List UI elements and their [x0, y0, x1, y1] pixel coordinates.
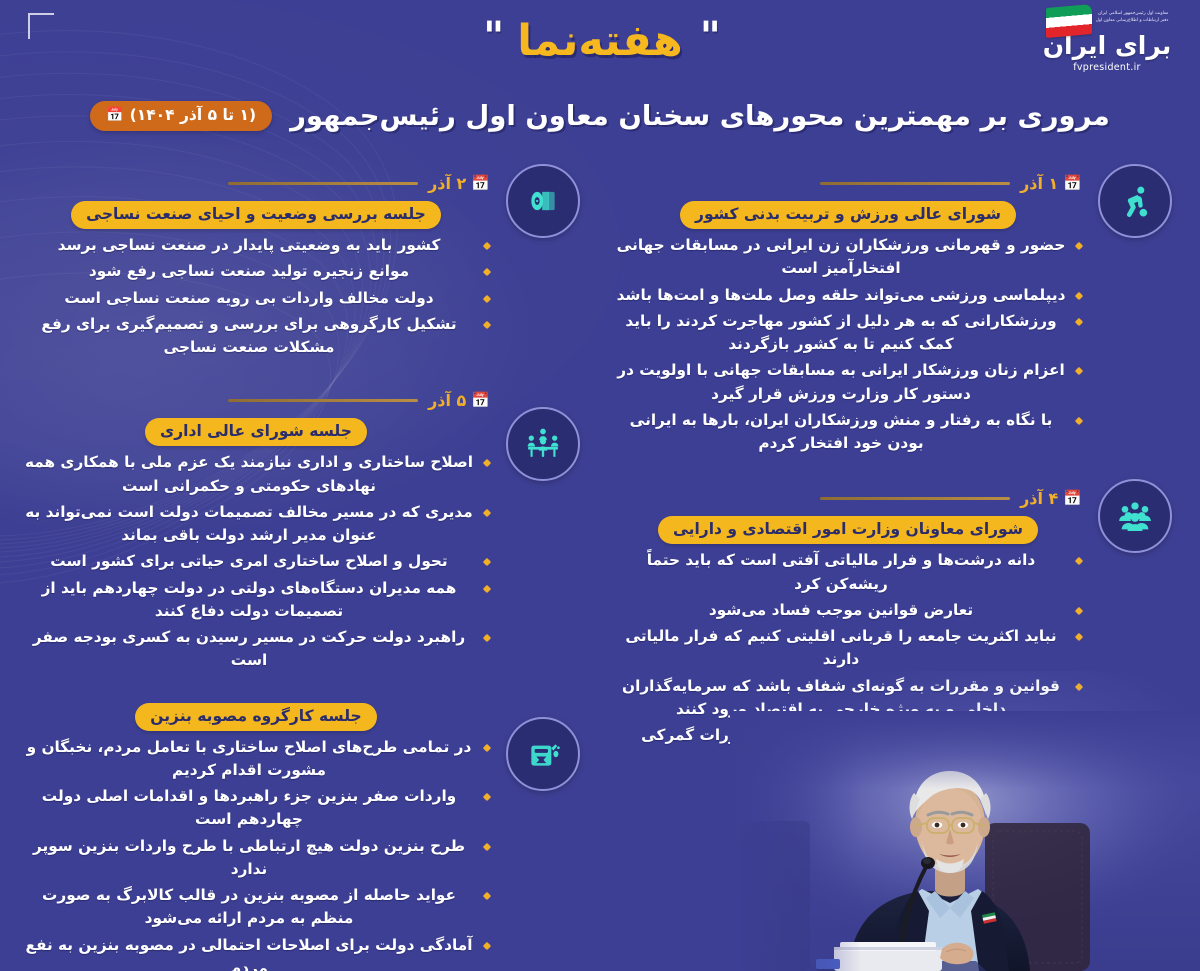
- list-item: راهبرد دولت حرکت در مسیر رسیدن به کسری ب…: [22, 626, 490, 673]
- header: معاونت اول رئیس‌جمهور اسلامی ایران دفتر …: [0, 0, 1200, 165]
- section-body: جلسه کارگروه مصوبه بنزین در تمامی طرح‌ها…: [22, 703, 586, 971]
- meeting-table-icon: [506, 407, 580, 481]
- date-range-badge: (۱ تا ۵ آذر ۱۴۰۴) 📅: [90, 101, 272, 131]
- calendar-icon: 📅: [106, 107, 123, 123]
- section-title-row: شورای عالی ورزش و تربیت بدنی کشور: [614, 201, 1082, 229]
- left-column: 📅 ۲ آذر جلسه بررسی وضعیت و احیای صنعت نس…: [0, 168, 600, 968]
- section-divider: [228, 182, 418, 185]
- list-item: قوانین و مقررات به گونه‌ای شفاف باشد که …: [614, 675, 1082, 722]
- title-area: " هفته‌نما ": [0, 16, 1200, 66]
- section-header: 📅 ۵ آذر: [22, 385, 586, 415]
- section-date-text: ۴ آذر: [1020, 489, 1058, 508]
- people-group-icon: [1098, 479, 1172, 553]
- section-date-text: ۲ آذر: [428, 174, 466, 193]
- bullet-list: در تمامی طرح‌های اصلاح ساختاری با تعامل …: [22, 736, 490, 971]
- list-item: دانه درشت‌ها و فرار مالیاتی آفتی است که …: [614, 549, 1082, 596]
- page-title: " هفته‌نما ": [483, 16, 717, 66]
- section-divider: [820, 182, 1010, 185]
- calendar-icon: 📅: [471, 174, 490, 192]
- list-item: مدیری که در مسیر مخالف تصمیمات دولت است …: [22, 501, 490, 548]
- section-date: 📅 ۴ آذر: [1020, 489, 1082, 508]
- page-subtitle: مروری بر مهمترین محورهای سخنان معاون اول…: [290, 100, 1110, 132]
- list-item: تشکیل کارگروهی برای بررسی و تصمیم‌گیری ب…: [22, 313, 490, 360]
- list-item: اعزام زنان ورزشکار ایرانی به مسابقات جها…: [614, 359, 1082, 406]
- list-item: حضور و قهرمانی ورزشکاران زن ایرانی در مس…: [614, 234, 1082, 281]
- section-title-pill: جلسه کارگروه مصوبه بنزین: [135, 703, 376, 731]
- list-item: اصلاح ساختاری و اداری نیازمند یک عزم ملی…: [22, 451, 490, 498]
- list-item: موانع زنجیره تولید صنعت نساجی رفع شود: [22, 260, 490, 283]
- section-title-pill: جلسه شورای عالی اداری: [145, 418, 367, 446]
- soccer-player-icon: [1098, 164, 1172, 238]
- quote-open-mark: ": [700, 14, 721, 60]
- list-item: کشور باید به وضعیتی پایدار در صنعت نساجی…: [22, 234, 490, 257]
- section-administrative-council: 📅 ۵ آذر جلسه شورای عالی اداری اصلاح ساخت…: [22, 385, 586, 672]
- bullet-list: دانه درشت‌ها و فرار مالیاتی آفتی است که …: [614, 549, 1082, 747]
- section-date-text: ۱ آذر: [1020, 174, 1058, 193]
- quote-close-mark: ": [483, 14, 504, 60]
- list-item: ورزشکارانی که به هر دلیل از کشور مهاجرت …: [614, 310, 1082, 357]
- section-body: شورای عالی ورزش و تربیت بدنی کشور حضور و…: [614, 198, 1178, 455]
- list-item: واردات صفر بنزین جزء راهبردها و اقدامات …: [22, 785, 490, 832]
- calendar-icon: 📅: [1063, 174, 1082, 192]
- section-textile-industry: 📅 ۲ آذر جلسه بررسی وضعیت و احیای صنعت نس…: [22, 168, 586, 359]
- section-economy-deputies: 📅 ۴ آذر شورای معاونان وزارت امور اقتصادی…: [614, 483, 1178, 747]
- list-item: عواید حاصله از مصوبه بنزین در قالب کالاب…: [22, 884, 490, 931]
- calendar-icon: 📅: [471, 391, 490, 409]
- section-title-pill: جلسه بررسی وضعیت و احیای صنعت نساجی: [71, 201, 441, 229]
- list-item: با نگاه به رفتار و منش ورزشکاران ایران، …: [614, 409, 1082, 456]
- section-title-pill: شورای معاونان وزارت امور اقتصادی و دارای…: [658, 516, 1038, 544]
- section-divider: [228, 399, 418, 402]
- right-column: 📅 ۱ آذر شورای عالی ورزش و تربیت بدنی کشو…: [600, 168, 1200, 968]
- fuel-can-icon: [506, 717, 580, 791]
- page-title-text: هفته‌نما: [517, 16, 683, 66]
- section-date: 📅 ۵ آذر: [428, 391, 490, 410]
- section-title-pill: شورای عالی ورزش و تربیت بدنی کشور: [680, 201, 1016, 229]
- infographic-root: معاونت اول رئیس‌جمهور اسلامی ایران دفتر …: [0, 0, 1200, 971]
- section-gasoline-workgroup: جلسه کارگروه مصوبه بنزین در تمامی طرح‌ها…: [22, 703, 586, 971]
- section-title-row: جلسه کارگروه مصوبه بنزین: [22, 703, 490, 731]
- section-date: 📅 ۱ آذر: [1020, 174, 1082, 193]
- section-sports-council: 📅 ۱ آذر شورای عالی ورزش و تربیت بدنی کشو…: [614, 168, 1178, 455]
- list-item: دولت مخالف واردات بی رویه صنعت نساجی است: [22, 287, 490, 310]
- date-range-text: (۱ تا ۵ آذر ۱۴۰۴): [130, 106, 256, 124]
- list-item: تحول و اصلاح ساختاری امری حیاتی برای کشو…: [22, 550, 490, 573]
- section-title-row: جلسه شورای عالی اداری: [22, 418, 490, 446]
- section-body: جلسه شورای عالی اداری اصلاح ساختاری و اد…: [22, 415, 586, 672]
- section-header: 📅 ۱ آذر: [614, 168, 1178, 198]
- section-title-row: جلسه بررسی وضعیت و احیای صنعت نساجی: [22, 201, 490, 229]
- list-item: طرح بنزین دولت هیچ ارتباطی با طرح واردات…: [22, 835, 490, 882]
- fabric-roll-icon: [506, 164, 580, 238]
- subtitle-row: مروری بر مهمترین محورهای سخنان معاون اول…: [0, 100, 1200, 132]
- list-item: در تمامی طرح‌های اصلاح ساختاری با تعامل …: [22, 736, 490, 783]
- bullet-list: کشور باید به وضعیتی پایدار در صنعت نساجی…: [22, 234, 490, 359]
- section-divider: [820, 497, 1010, 500]
- section-date-text: ۵ آذر: [428, 391, 466, 410]
- list-item: تاکید بر ضرورت ساده‌سازی قوانین و مقررات…: [614, 724, 1082, 747]
- list-item: دیپلماسی ورزشی می‌تواند حلقه وصل ملت‌ها …: [614, 284, 1082, 307]
- section-header: 📅 ۴ آذر: [614, 483, 1178, 513]
- list-item: تعارض قوانین موجب فساد می‌شود: [614, 599, 1082, 622]
- section-date: 📅 ۲ آذر: [428, 174, 490, 193]
- section-body: شورای معاونان وزارت امور اقتصادی و دارای…: [614, 513, 1178, 747]
- bullet-list: اصلاح ساختاری و اداری نیازمند یک عزم ملی…: [22, 451, 490, 672]
- content-columns: 📅 ۱ آذر شورای عالی ورزش و تربیت بدنی کشو…: [0, 168, 1200, 968]
- list-item: آمادگی دولت برای اصلاحات احتمالی در مصوب…: [22, 934, 490, 971]
- section-title-row: شورای معاونان وزارت امور اقتصادی و دارای…: [614, 516, 1082, 544]
- section-body: جلسه بررسی وضعیت و احیای صنعت نساجی کشور…: [22, 198, 586, 359]
- list-item: نباید اکثریت جامعه را قربانی اقلیتی کنیم…: [614, 625, 1082, 672]
- list-item: همه مدیران دستگاه‌های دولتی در دولت چهار…: [22, 577, 490, 624]
- calendar-icon: 📅: [1063, 489, 1082, 507]
- section-header: 📅 ۲ آذر: [22, 168, 586, 198]
- bullet-list: حضور و قهرمانی ورزشکاران زن ایرانی در مس…: [614, 234, 1082, 455]
